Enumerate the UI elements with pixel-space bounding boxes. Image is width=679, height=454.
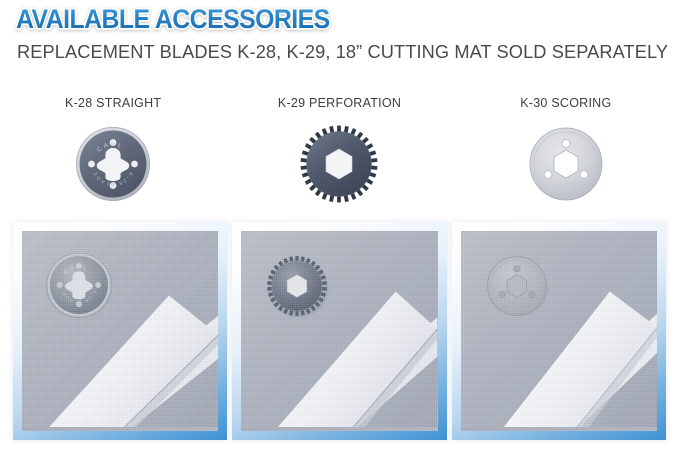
blade-label-k28: K-28 STRAIGHT (65, 94, 161, 112)
k30-photo-image (461, 231, 657, 431)
straight-blade-icon: CARL K-28 BLADE (73, 124, 153, 204)
blade-label-k30: K-30 SCORING (520, 94, 611, 112)
blade-spec-k30: K-30 SCORING (453, 94, 679, 214)
k28-photo-image: CARL K-28 BLADE (22, 231, 218, 431)
page-title: AVAILABLE ACCESSORIES (16, 4, 330, 34)
perforation-blade-icon (299, 124, 379, 204)
k29-photo-image (241, 231, 437, 431)
blade-spec-k28: K-28 STRAIGHT (0, 94, 226, 214)
scoring-blade-icon (526, 124, 606, 204)
k28-photo-panel: CARL K-28 BLADE (13, 222, 227, 440)
photo-panel-row: CARL K-28 BLADE (0, 222, 679, 454)
blade-spec-k29: K-29 PERFORATION (226, 94, 452, 214)
k29-photo-panel (232, 222, 446, 440)
blade-spec-row: K-28 STRAIGHT (0, 94, 679, 214)
page-subtitle: REPLACEMENT BLADES K-28, K-29, 18” CUTTI… (17, 41, 668, 63)
blade-label-k29: K-29 PERFORATION (278, 94, 401, 112)
k30-photo-panel (452, 222, 666, 440)
